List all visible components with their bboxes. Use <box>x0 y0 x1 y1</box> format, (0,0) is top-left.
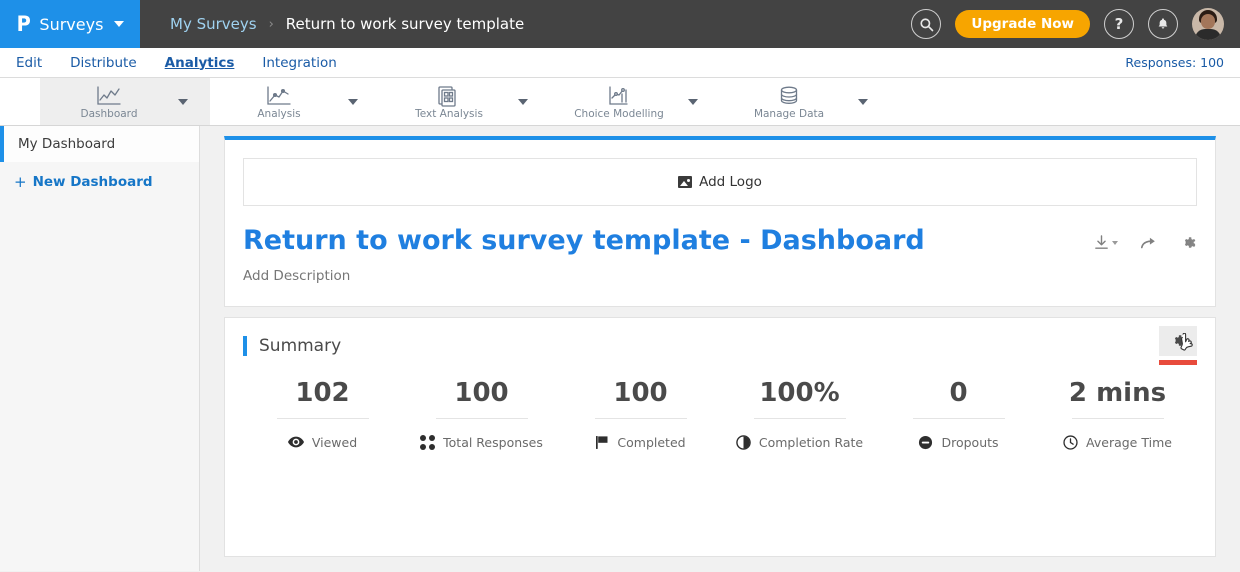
toolbar-group-text-analysis: Text Analysis <box>380 78 550 125</box>
stat-label: Viewed <box>312 435 357 450</box>
dashboard-header-card: Add Logo Return to work survey template … <box>224 136 1216 307</box>
stat-label-row: Dropouts <box>918 435 998 450</box>
chevron-down-icon[interactable] <box>348 99 358 105</box>
add-logo-label: Add Logo <box>699 174 762 190</box>
download-icon[interactable] <box>1094 235 1118 251</box>
help-icon[interactable]: ? <box>1104 9 1134 39</box>
toolbar-item-choice-modelling[interactable]: Choice Modelling <box>554 78 684 125</box>
add-logo-button[interactable]: Add Logo <box>243 158 1197 206</box>
chevron-down-icon[interactable] <box>858 99 868 105</box>
brand-logo-icon: P <box>17 14 30 35</box>
analytics-toolbar: Dashboard Analysis <box>0 78 1240 126</box>
sidebar-item-label: My Dashboard <box>18 136 115 152</box>
dashboard-content: Add Logo Return to work survey template … <box>200 126 1240 571</box>
chevron-down-icon <box>1112 241 1118 245</box>
stat-completed: 100 Completed <box>561 378 720 450</box>
stat-label-row: Completion Rate <box>736 435 863 450</box>
breadcrumb-my-surveys-link[interactable]: My Surveys <box>170 15 257 33</box>
scatter-line-chart-icon <box>266 83 292 107</box>
toolbar-group-choice-modelling: Choice Modelling <box>550 78 720 125</box>
sidebar-item-my-dashboard[interactable]: My Dashboard <box>0 126 199 162</box>
chevron-down-icon[interactable] <box>178 99 188 105</box>
brand-name-label: Surveys <box>39 15 103 34</box>
summary-stats: 102 Viewed 100 <box>243 378 1197 450</box>
page-title[interactable]: Return to work survey template - Dashboa… <box>243 226 1094 256</box>
header-actions: Upgrade Now ? <box>911 8 1240 40</box>
tab-distribute[interactable]: Distribute <box>70 55 137 71</box>
stat-divider <box>754 418 846 419</box>
dashboard-title-row: Return to work survey template - Dashboa… <box>243 226 1197 256</box>
add-description-link[interactable]: Add Description <box>243 268 1197 284</box>
mouse-cursor-pointer <box>1178 333 1197 355</box>
stat-label: Dropouts <box>941 435 998 450</box>
stat-viewed: 102 Viewed <box>243 378 402 450</box>
dashboard-sidebar: My Dashboard + New Dashboard <box>0 126 200 571</box>
top-header-bar: P Surveys My Surveys › Return to work su… <box>0 0 1240 48</box>
share-icon[interactable] <box>1140 235 1158 251</box>
toolbar-item-analysis[interactable]: Analysis <box>214 78 344 125</box>
upgrade-now-button[interactable]: Upgrade Now <box>955 10 1090 38</box>
tab-edit[interactable]: Edit <box>16 55 42 71</box>
stat-divider <box>913 418 1005 419</box>
scatter-bar-chart-icon <box>607 83 631 107</box>
dashboard-title-actions <box>1094 226 1197 251</box>
minus-circle-icon <box>918 435 933 450</box>
secondary-nav-items: Edit Distribute Analytics Integration <box>16 55 337 71</box>
document-grid-icon <box>437 83 461 107</box>
stat-dropouts: 0 Dropouts <box>879 378 1038 450</box>
breadcrumb-current-survey: Return to work survey template <box>286 15 524 33</box>
toolbar-group-dashboard: Dashboard <box>40 78 210 125</box>
toolbar-item-text-analysis[interactable]: Text Analysis <box>384 78 514 125</box>
brand-menu[interactable]: P Surveys <box>0 0 140 48</box>
stat-label-row: Total Responses <box>420 435 543 450</box>
summary-gear-button[interactable] <box>1159 326 1197 356</box>
stat-value: 100 <box>454 378 508 408</box>
pie-chart-icon <box>736 435 751 450</box>
secondary-nav: Edit Distribute Analytics Integration Re… <box>0 48 1240 78</box>
stat-value: 100 <box>613 378 667 408</box>
new-dashboard-label: New Dashboard <box>33 174 153 190</box>
toolbar-label-text-analysis: Text Analysis <box>415 108 483 120</box>
summary-settings-control <box>1159 326 1197 365</box>
summary-card: Summary 102 <box>224 317 1216 557</box>
page-body: My Dashboard + New Dashboard Add Logo Re… <box>0 126 1240 571</box>
stat-completion-rate: 100% Completion Rate <box>720 378 879 450</box>
plus-icon: + <box>14 173 27 191</box>
notification-bell-icon[interactable] <box>1148 9 1178 39</box>
eye-icon <box>288 436 304 448</box>
stat-average-time: 2 mins Average Time <box>1038 378 1197 450</box>
search-icon[interactable] <box>911 9 941 39</box>
stat-divider <box>277 418 369 419</box>
database-icon <box>777 83 801 107</box>
stat-value: 2 mins <box>1069 378 1166 408</box>
stat-label: Completion Rate <box>759 435 863 450</box>
stat-total-responses: 100 Total Responses <box>402 378 561 450</box>
toolbar-group-analysis: Analysis <box>210 78 380 125</box>
toolbar-label-choice-modelling: Choice Modelling <box>574 108 664 120</box>
stat-label: Completed <box>617 435 685 450</box>
tab-analytics[interactable]: Analytics <box>165 55 235 71</box>
four-dots-icon <box>420 435 435 450</box>
toolbar-label-manage-data: Manage Data <box>754 108 824 120</box>
avatar-face <box>1201 14 1215 29</box>
stat-label: Total Responses <box>443 435 543 450</box>
toolbar-item-dashboard[interactable]: Dashboard <box>44 78 174 125</box>
stat-label-row: Completed <box>595 435 685 450</box>
toolbar-item-manage-data[interactable]: Manage Data <box>724 78 854 125</box>
flag-icon <box>595 435 609 449</box>
toolbar-label-dashboard: Dashboard <box>81 108 138 120</box>
stat-value: 0 <box>949 378 967 408</box>
chevron-down-icon[interactable] <box>688 99 698 105</box>
breadcrumb: My Surveys › Return to work survey templ… <box>140 15 911 33</box>
stat-value: 102 <box>295 378 349 408</box>
gear-icon[interactable] <box>1180 234 1197 251</box>
stat-divider <box>1072 418 1164 419</box>
chevron-down-icon <box>114 21 124 27</box>
line-chart-icon <box>96 83 122 107</box>
breadcrumb-separator-icon: › <box>269 17 274 32</box>
summary-gear-highlight <box>1159 360 1197 365</box>
summary-title: Summary <box>259 336 341 356</box>
avatar[interactable] <box>1192 8 1224 40</box>
responses-count: Responses: 100 <box>1125 55 1224 70</box>
stat-label-row: Average Time <box>1063 435 1172 450</box>
summary-accent-bar <box>243 336 247 356</box>
chevron-down-icon[interactable] <box>518 99 528 105</box>
avatar-body <box>1195 29 1221 40</box>
toolbar-group-manage-data: Manage Data <box>720 78 890 125</box>
toolbar-left-spacer <box>0 78 40 125</box>
summary-header: Summary <box>243 336 1197 356</box>
new-dashboard-button[interactable]: + New Dashboard <box>0 162 199 202</box>
stat-label: Average Time <box>1086 435 1172 450</box>
toolbar-label-analysis: Analysis <box>257 108 300 120</box>
card-gap <box>224 307 1216 317</box>
tab-integration[interactable]: Integration <box>262 55 336 71</box>
image-icon <box>678 176 692 188</box>
stat-divider <box>436 418 528 419</box>
stat-label-row: Viewed <box>288 435 357 450</box>
stat-value: 100% <box>759 378 839 408</box>
stat-divider <box>595 418 687 419</box>
clock-icon <box>1063 435 1078 450</box>
